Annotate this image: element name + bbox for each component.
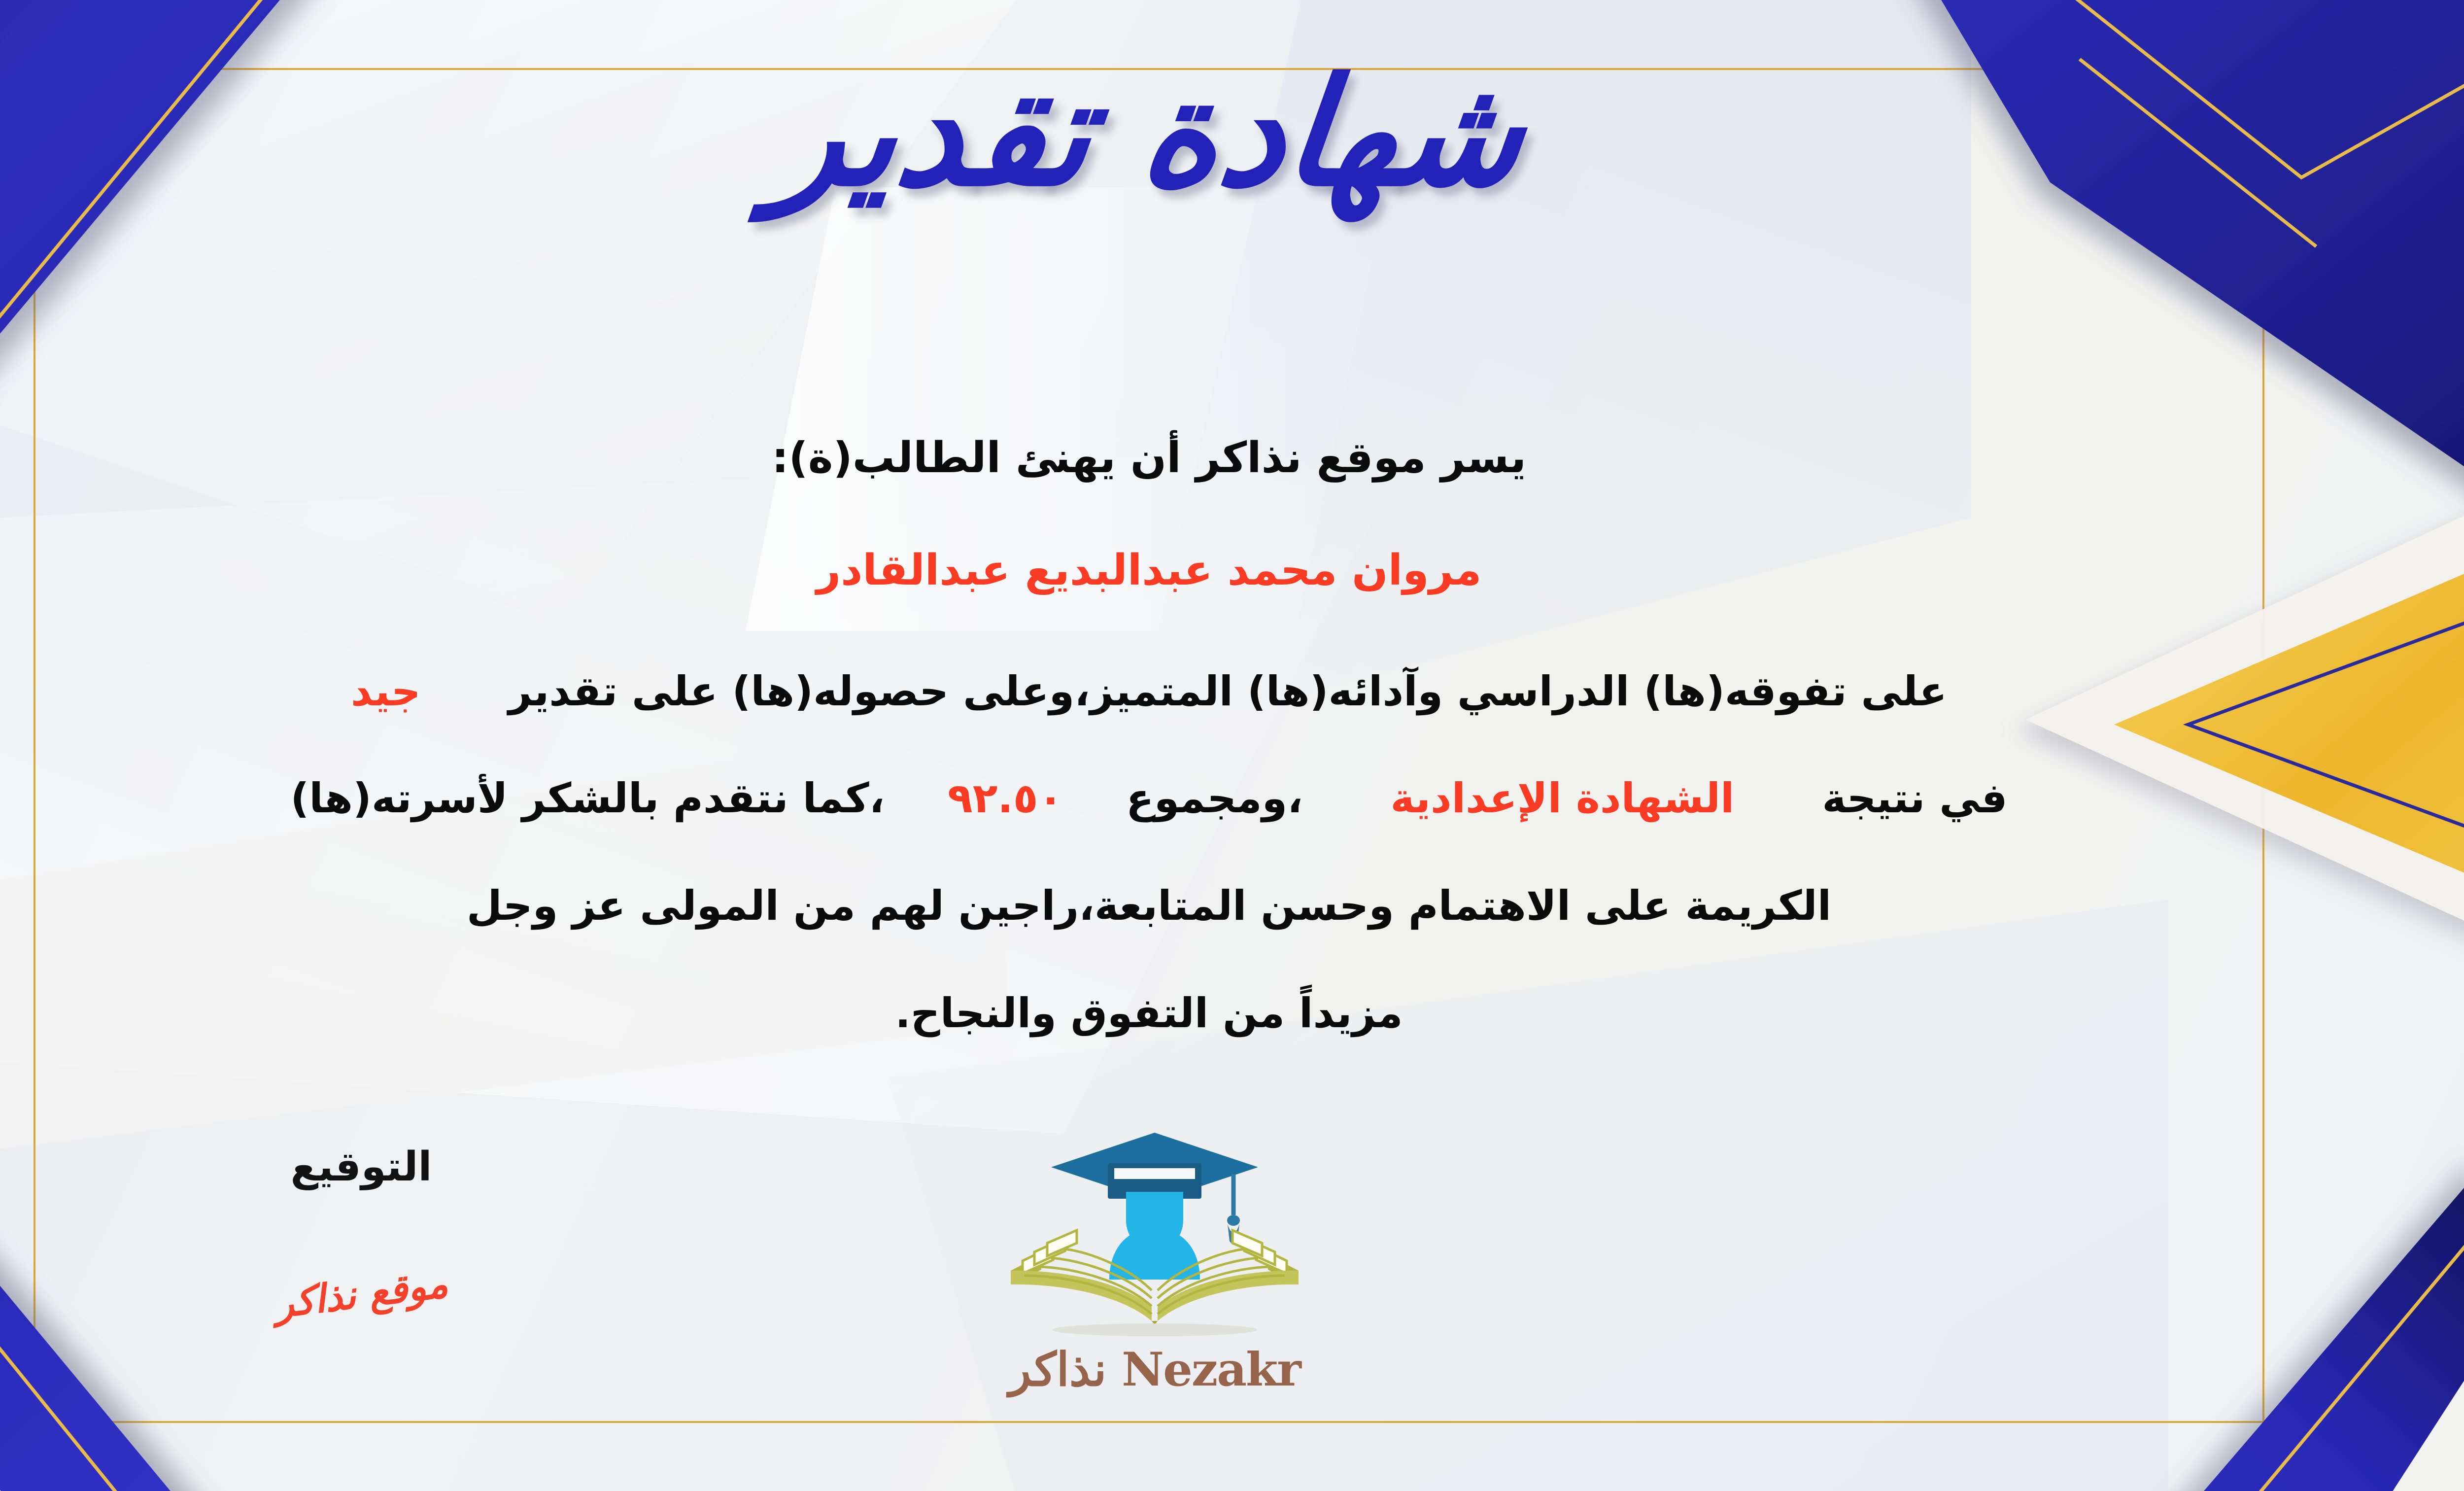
logo-brand-text: Nezakr نذاكر [958, 1343, 1352, 1397]
result-line: في نتيجة الشهادة الإعدادية ،ومجموع ٩٢.٥٠… [0, 775, 2464, 822]
total-label: ،ومجموع [1126, 774, 1303, 822]
exam-name: الشهادة الإعدادية [1391, 774, 1735, 822]
graduate-book-icon [1002, 1119, 1307, 1346]
family-thanks-line: الكريمة على الاهتمام وحسن المتابعة،راجين… [0, 882, 2464, 929]
student-name-line: مروان محمد عبدالبديع عبدالقادر [0, 546, 2464, 595]
achievement-line: على تفوقه(ها) الدراسي وآدائه(ها) المتميز… [0, 668, 2464, 715]
closing-text: مزيداً من التفوق والنجاح. [895, 989, 1403, 1037]
student-name: مروان محمد عبدالبديع عبدالقادر [817, 546, 1482, 595]
thanks-text: ،كما نتقدم بالشكر لأسرته(ها) [290, 774, 885, 822]
family-thanks-text: الكريمة على الاهتمام وحسن المتابعة،راجين… [467, 882, 1831, 930]
certificate-title: شهادة تقدير [0, 59, 2464, 207]
grade-value: جيد [351, 667, 421, 715]
signature-label: التوقيع [208, 1144, 514, 1190]
closing-line: مزيداً من التفوق والنجاح. [0, 990, 2464, 1037]
intro-line: يسر موقع نذاكر أن يهنئ الطالب(ة): [0, 434, 2464, 483]
achievement-text: على تفوقه(ها) الدراسي وآدائه(ها) المتميز… [509, 667, 1947, 715]
brand-logo: Nezakr نذاكر [958, 1119, 1352, 1424]
intro-text: يسر موقع نذاكر أن يهنئ الطالب(ة): [772, 433, 1526, 483]
certificate-canvas: شهادة تقدير يسر موقع نذاكر أن يهنئ الطال… [0, 0, 2464, 1491]
result-prefix: في نتيجة [1822, 774, 2007, 822]
score-value: ٩٢.٥٠ [948, 774, 1063, 822]
signature-handwritten: موقع نذاكر [207, 1253, 515, 1335]
